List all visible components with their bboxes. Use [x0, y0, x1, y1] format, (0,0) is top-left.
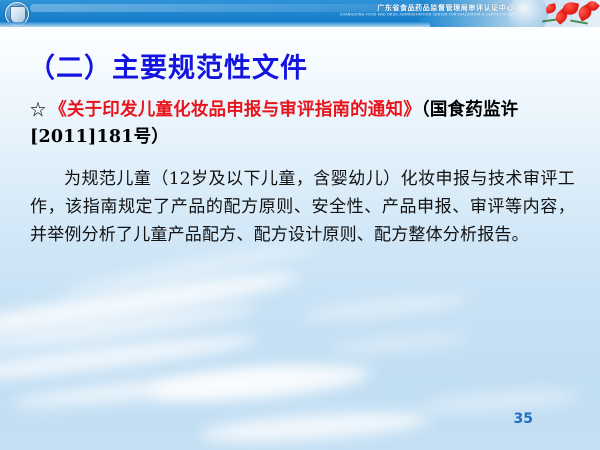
organization-name-english: GUANGDONG FOOD AND DRUG ADMINISTRATION C… [340, 13, 514, 17]
slide-heading: （二）主要规范性文件 [28, 46, 308, 85]
cloud-streak [10, 362, 310, 413]
cloud-streak [199, 407, 430, 447]
cloud-streak [300, 291, 471, 325]
red-flower-icon [562, 1, 579, 17]
cloud-streak [0, 264, 300, 346]
body-paragraph: 为规范儿童（12岁及以下儿童，含婴幼儿）化妆申报与技术审评工作，该指南规定了产品… [30, 165, 575, 249]
red-flower-icon [545, 3, 556, 14]
header-banner: 广东省食品药品监督管理局审评认证中心 GUANGDONG FOOD AND DR… [0, 0, 600, 27]
flower-stem-icon [570, 19, 588, 24]
page-number: 35 [514, 411, 533, 427]
organization-name: 广东省食品药品监督管理局审评认证中心 [377, 3, 514, 13]
star-bullet-icon: ☆ [30, 100, 46, 119]
banner-underline [0, 22, 430, 27]
document-citation: ☆《关于印发儿童化妆品申报与审评指南的通知》（国食药监许[2011]181号） [30, 96, 575, 151]
globe-icon [508, 0, 548, 27]
document-title: 《关于印发儿童化妆品申报与审评指南的通知》 [49, 100, 421, 120]
cloud-streak [420, 386, 581, 415]
cloud-streak [149, 358, 371, 407]
cloud-streak [0, 299, 260, 359]
presentation-slide: 广东省食品药品监督管理局审评认证中心 GUANGDONG FOOD AND DR… [0, 0, 600, 450]
cloud-streak [330, 330, 471, 356]
cloud-streak [0, 328, 260, 390]
